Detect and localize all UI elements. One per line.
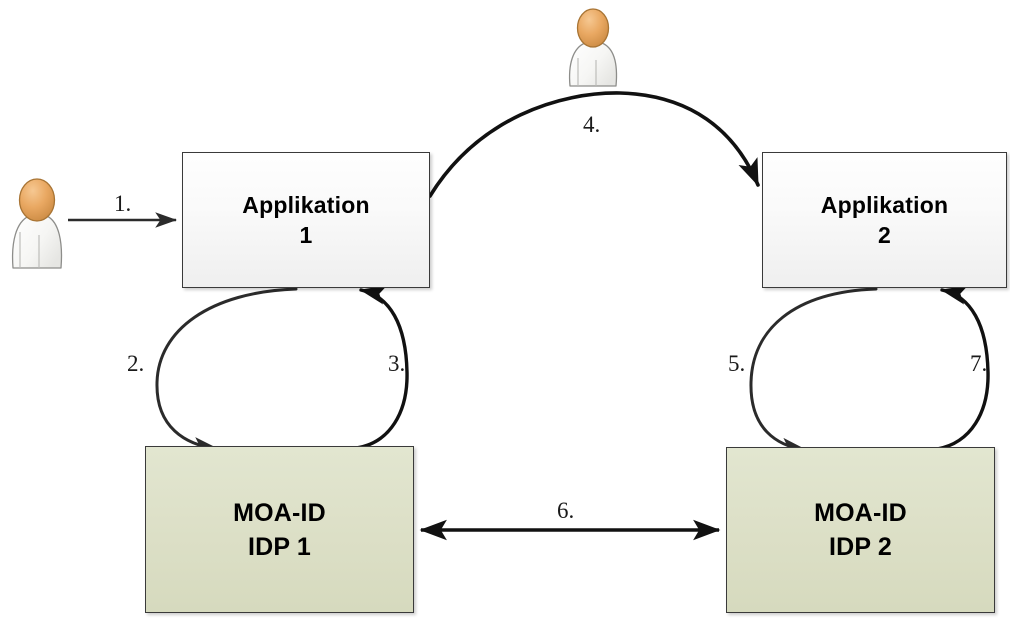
user-actor-top	[560, 6, 626, 92]
moa-id-idp-2-box[interactable]: MOA-ID IDP 2	[726, 447, 995, 613]
moa-id-idp-1-box[interactable]: MOA-ID IDP 1	[145, 446, 414, 613]
moa-id-idp-1-index: IDP 1	[248, 530, 311, 564]
step-label-3: 3.	[388, 351, 405, 377]
step-label-1: 1.	[114, 191, 131, 217]
application-2-index: 2	[878, 220, 891, 250]
application-2-title: Applikation	[821, 190, 948, 220]
moa-id-idp-2-index: IDP 2	[829, 530, 892, 564]
diagram-canvas: Applikation 1 Applikation 2 MOA-ID IDP 1…	[0, 0, 1010, 618]
person-icon	[6, 172, 68, 274]
application-1-index: 1	[300, 220, 313, 250]
moa-id-idp-2-title: MOA-ID	[814, 496, 907, 530]
moa-id-idp-1-title: MOA-ID	[233, 496, 326, 530]
person-icon	[560, 6, 626, 92]
connector-5	[751, 289, 876, 450]
application-1-box[interactable]: Applikation 1	[182, 152, 430, 288]
connector-2	[157, 289, 296, 449]
user-actor-left	[6, 172, 68, 274]
connector-4	[430, 93, 758, 196]
step-label-6: 6.	[557, 498, 574, 524]
step-label-4: 4.	[583, 112, 600, 138]
step-label-7: 7.	[970, 351, 987, 377]
step-label-2: 2.	[127, 351, 144, 377]
application-1-title: Applikation	[242, 190, 369, 220]
step-label-5: 5.	[728, 351, 745, 377]
application-2-box[interactable]: Applikation 2	[762, 152, 1007, 288]
